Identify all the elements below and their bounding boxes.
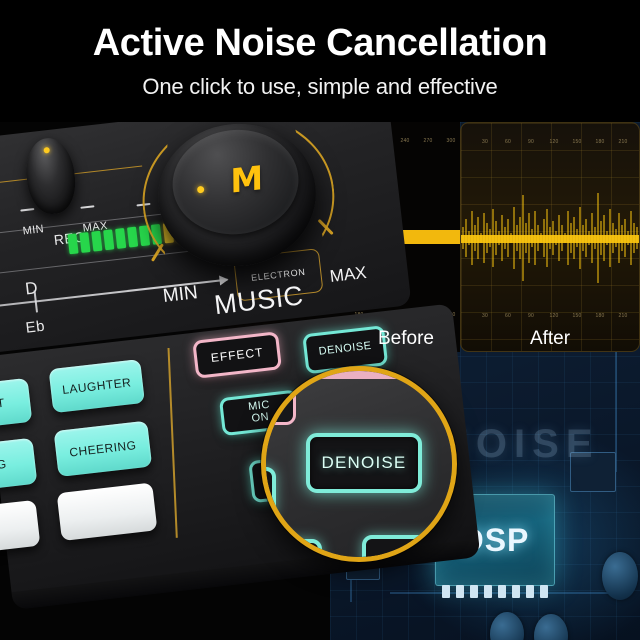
led-segment bbox=[103, 229, 114, 250]
chip-pin bbox=[526, 585, 534, 598]
led-segment bbox=[127, 227, 138, 248]
led-segment bbox=[91, 231, 102, 252]
note-label-d: D bbox=[24, 278, 39, 299]
magnified-effect-pad bbox=[261, 381, 296, 425]
music-knob-max-label: MAX bbox=[329, 263, 368, 287]
rec-knob-min-label: MIN bbox=[22, 223, 45, 237]
chip-pin bbox=[456, 585, 464, 598]
pad-label: LAUGHTER bbox=[62, 376, 132, 397]
chip-pin bbox=[442, 585, 450, 598]
pad-label: PING bbox=[0, 457, 7, 473]
chip-pin bbox=[540, 585, 548, 598]
chip-pin bbox=[498, 585, 506, 598]
led-segment bbox=[115, 228, 126, 249]
pad-label: SHOT bbox=[0, 396, 5, 413]
header-banner: Active Noise Cancellation One click to u… bbox=[0, 0, 640, 122]
brand-logo-icon: M bbox=[230, 163, 263, 197]
pad-label: CHEERING bbox=[69, 439, 137, 459]
pad-label: EFFECT bbox=[210, 346, 264, 365]
knob-indicator-dot bbox=[43, 147, 50, 154]
led-segment bbox=[79, 232, 90, 253]
chip-pin bbox=[470, 585, 478, 598]
magnifier-lens: DENOISE bbox=[261, 366, 457, 562]
music-knob-min-label: MIN bbox=[162, 282, 199, 308]
chip-pin bbox=[484, 585, 492, 598]
circuit-capacitor bbox=[602, 552, 638, 600]
page-subtitle: One click to use, simple and effective bbox=[0, 73, 640, 101]
promo-image-root: DENOISE DSP 30 60 90 120 150 180 210 bbox=[0, 0, 640, 640]
page-title: Active Noise Cancellation bbox=[0, 20, 640, 66]
note-label-eb: Eb bbox=[25, 318, 46, 337]
led-segment bbox=[67, 233, 78, 254]
label-after: After bbox=[500, 328, 600, 350]
magnified-denoise-label: DENOISE bbox=[322, 453, 407, 473]
knob-indicator-dot bbox=[197, 186, 205, 194]
magnified-denoise-button[interactable]: DENOISE bbox=[306, 433, 422, 493]
chip-pin bbox=[512, 585, 520, 598]
label-before: Before bbox=[356, 328, 456, 350]
music-knob-cap: M bbox=[167, 123, 304, 241]
